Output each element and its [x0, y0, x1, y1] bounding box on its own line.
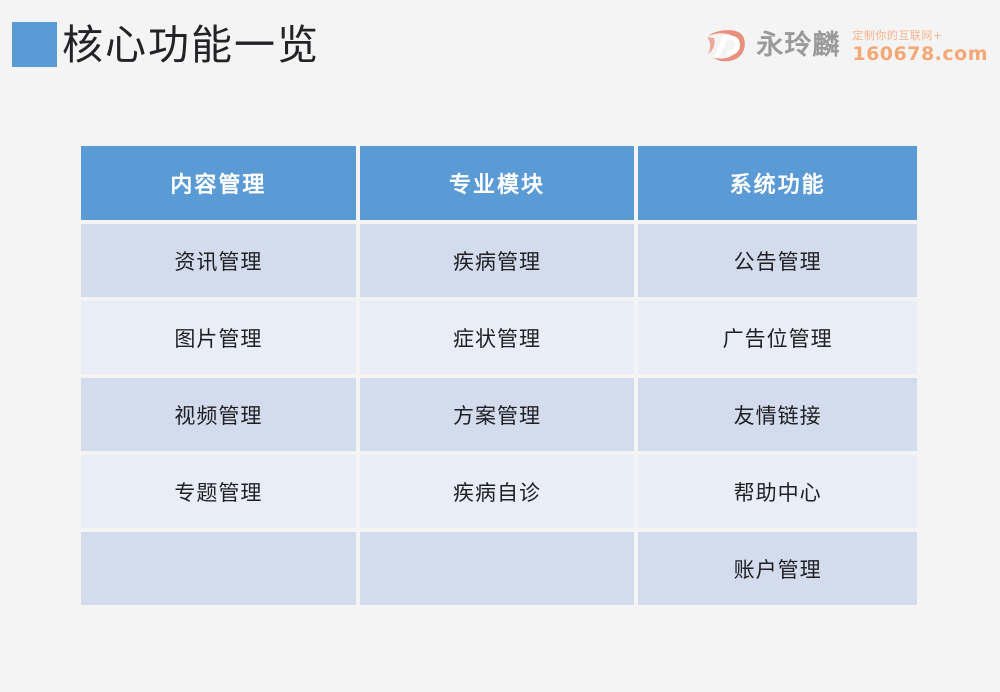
table-cell: 症状管理: [360, 301, 639, 378]
table-body: 资讯管理 疾病管理 公告管理 图片管理 症状管理 广告位管理 视频管理 方案管理…: [81, 224, 917, 605]
page-title: 核心功能一览: [62, 17, 320, 73]
table-cell: 广告位管理: [638, 301, 917, 378]
brand-domain: 160678.com: [852, 43, 988, 65]
table-row: 专题管理 疾病自诊 帮助中心: [81, 455, 917, 532]
table-cell: 疾病管理: [360, 224, 639, 301]
table-cell: 账户管理: [638, 532, 917, 605]
table-cell: 视频管理: [81, 378, 360, 455]
column-header-professional-modules: 专业模块: [360, 146, 639, 224]
table-cell: 帮助中心: [638, 455, 917, 532]
table-cell: 疾病自诊: [360, 455, 639, 532]
table-row: 资讯管理 疾病管理 公告管理: [81, 224, 917, 301]
brand-text-group: 定制你的互联网+ 160678.com: [852, 27, 988, 65]
table-cell: 公告管理: [638, 224, 917, 301]
brand-logo: 永玲麟 定制你的互联网+ 160678.com: [706, 22, 988, 70]
table-row: 账户管理: [81, 532, 917, 605]
table-cell-empty: [360, 532, 639, 605]
table-row: 图片管理 症状管理 广告位管理: [81, 301, 917, 378]
table-cell: 图片管理: [81, 301, 360, 378]
feature-table: 内容管理 专业模块 系统功能 资讯管理 疾病管理 公告管理 图片管理 症状管理 …: [81, 146, 917, 605]
slide-header: 核心功能一览 永玲麟 定制你的互联网+ 160678.com: [0, 0, 1000, 100]
table-cell: 友情链接: [638, 378, 917, 455]
column-header-system-functions: 系统功能: [638, 146, 917, 224]
brand-name: 永玲麟: [756, 30, 840, 62]
table-cell-empty: [81, 532, 360, 605]
title-accent-bar: [12, 22, 57, 67]
table-cell: 资讯管理: [81, 224, 360, 301]
table-header: 内容管理 专业模块 系统功能: [81, 146, 917, 224]
column-header-content-management: 内容管理: [81, 146, 360, 224]
table-cell: 专题管理: [81, 455, 360, 532]
table-row: 视频管理 方案管理 友情链接: [81, 378, 917, 455]
table-header-row: 内容管理 专业模块 系统功能: [81, 146, 917, 224]
table-cell: 方案管理: [360, 378, 639, 455]
brand-tagline: 定制你的互联网+: [852, 29, 988, 43]
logo-d-swoosh-icon: [706, 27, 748, 65]
